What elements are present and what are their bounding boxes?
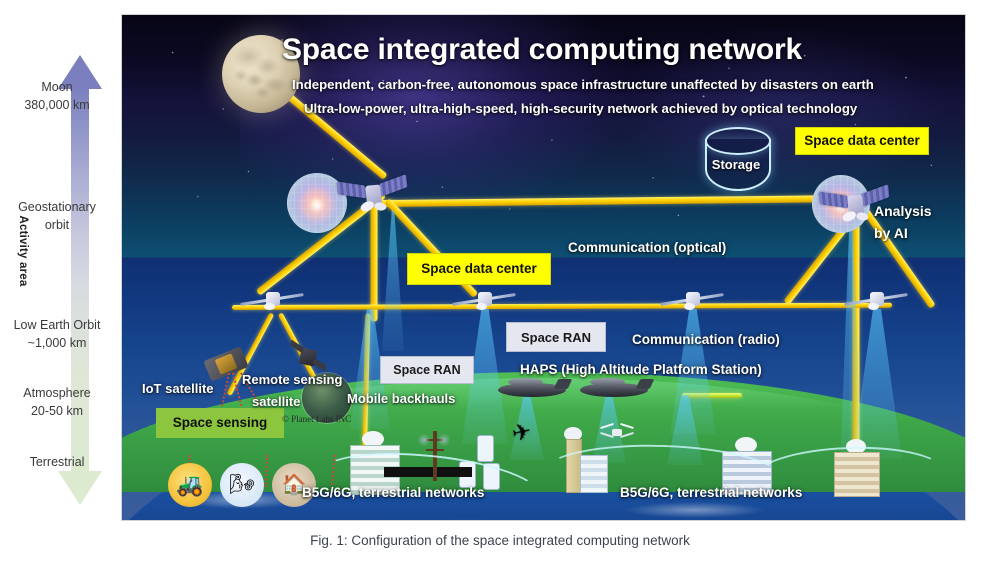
satellite-dish [264, 303, 275, 310]
leo-satellite-2 [452, 287, 516, 315]
wind-turbine-icon: 🌬 [220, 463, 264, 507]
figure-subtitle-1: Independent, carbon-free, autonomous spa… [292, 77, 874, 92]
axis-tick-geostationary: Geostationary orbit [0, 198, 116, 234]
axis-tick-value: 20-50 km [0, 402, 116, 420]
satellite-dish [868, 303, 879, 310]
axis-tick-low-earth-orbit: Low Earth Orbit ~1,000 km [0, 316, 116, 352]
altitude-axis: Activity area Moon 380,000 km Geostation… [0, 0, 122, 525]
label-haps: HAPS (High Altitude Platform Station) [520, 362, 762, 377]
smartphone-icon [477, 435, 494, 462]
axis-tick-value: 380,000 km [0, 96, 116, 114]
axis-tick-label: Atmosphere [0, 384, 116, 402]
figure-page: Activity area Moon 380,000 km Geostation… [0, 0, 1000, 577]
altitude-arrow [58, 55, 102, 505]
haps-upper-surface [508, 378, 543, 386]
label-remote-sensing-line2: satellite [252, 394, 300, 409]
label-mobile-backhauls: Mobile backhauls [347, 391, 455, 406]
callout-space-ran-center[interactable]: Space RAN [506, 322, 606, 352]
agriculture-icon: 🚜 [168, 463, 212, 507]
satellite-dish [476, 303, 487, 310]
haps-airship-left [498, 377, 566, 399]
figure-image: Space integrated computing network Indep… [122, 15, 965, 520]
axis-tick-label: Moon [0, 78, 116, 96]
solar-panel [379, 174, 407, 197]
axis-tick-value: ~1,000 km [0, 334, 116, 352]
figure-caption: Fig. 1: Configuration of the space integ… [0, 533, 1000, 548]
figure-title: Space integrated computing network [282, 33, 802, 67]
label-analysis-by-ai-line2: by AI [874, 225, 908, 241]
arrow-head-down-icon [58, 471, 102, 505]
label-iot-satellite: IoT satellite [142, 381, 214, 396]
leo-satellite-3 [660, 287, 724, 315]
figure-subtitle-2: Ultra-low-power, ultra-high-speed, high-… [304, 101, 857, 116]
callout-space-ran-left[interactable]: Space RAN [380, 356, 474, 384]
label-analysis-by-ai-line1: Analysis [874, 203, 932, 219]
geostationary-satellite-left [338, 169, 412, 218]
label-credit: © Planet Labs INC [282, 414, 351, 424]
label-remote-sensing-line1: Remote sensing [242, 372, 342, 387]
solar-panel [818, 191, 848, 208]
satellite-dish [359, 199, 375, 213]
label-communication-optical: Communication (optical) [568, 240, 726, 255]
solar-panel [336, 181, 366, 198]
axis-tick-label: Terrestrial [0, 453, 116, 471]
satellite-dish [374, 202, 387, 212]
axis-tick-moon: Moon 380,000 km [0, 78, 116, 114]
axis-tick-value: orbit [0, 216, 116, 234]
satellite-dish [684, 303, 695, 310]
satellite-dish [841, 209, 857, 223]
label-terrestrial-left: B5G/6G, terrestrial networks [302, 485, 484, 500]
callout-space-sensing[interactable]: Space sensing [156, 408, 284, 438]
label-terrestrial-right: B5G/6G, terrestrial networks [620, 485, 802, 500]
axis-tick-terrestrial: Terrestrial [0, 453, 116, 471]
satellite-payload [215, 353, 238, 375]
satellite-dish [856, 212, 869, 222]
cylinder-top [705, 127, 771, 155]
callout-space-data-center-left[interactable]: Space data center [407, 253, 551, 285]
storage-label: Storage [705, 157, 767, 172]
storage-cylinder: Storage [705, 127, 767, 193]
solar-panel [313, 358, 327, 372]
callout-space-data-center-right[interactable]: Space data center [795, 127, 929, 155]
axis-tick-atmosphere: Atmosphere 20-50 km [0, 384, 116, 420]
leo-satellite-4 [844, 287, 908, 315]
leo-satellite-1 [240, 287, 304, 315]
label-communication-radio: Communication (radio) [632, 332, 780, 347]
haps-upper-surface [590, 378, 625, 386]
axis-tick-label: Geostationary [0, 198, 116, 216]
axis-tick-label: Low Earth Orbit [0, 316, 116, 334]
haps-airship-right [580, 377, 648, 399]
